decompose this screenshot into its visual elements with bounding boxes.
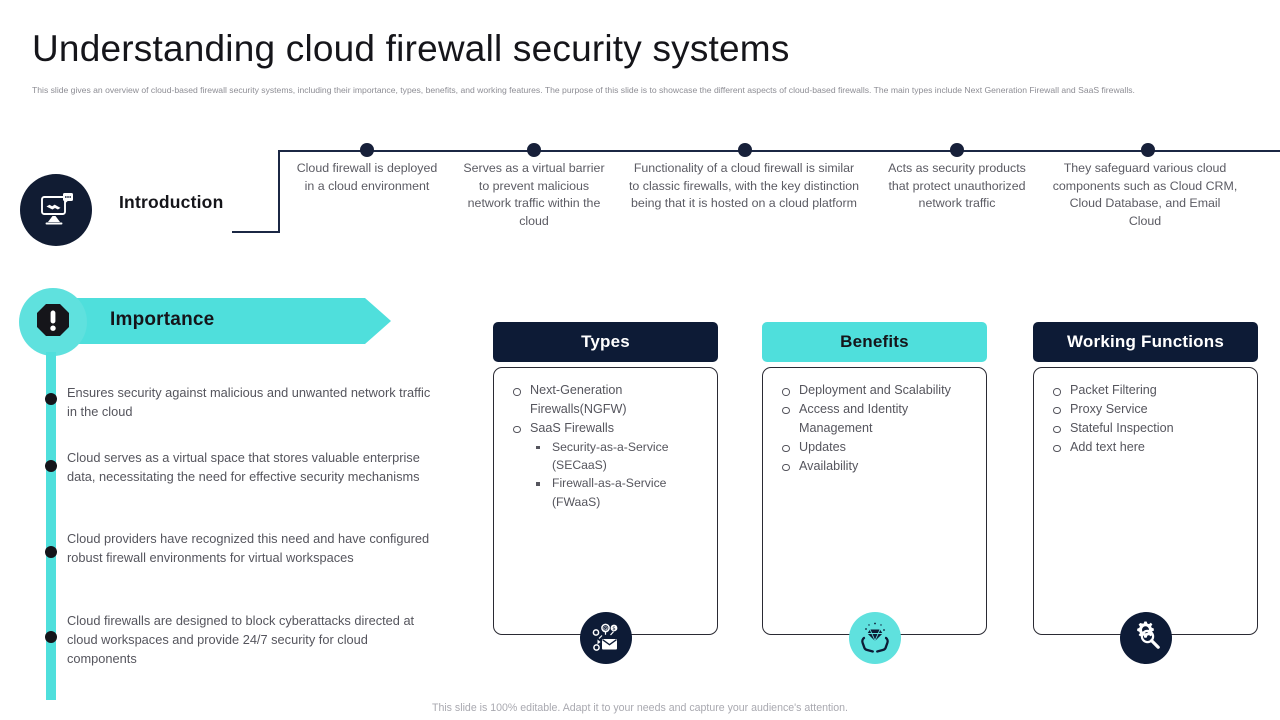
timeline-item-5-text: They safeguard various cloud components … (1052, 160, 1238, 230)
timeline-item-4-text: Acts as security products that protect u… (886, 160, 1028, 213)
exclamation-octagon-icon (33, 300, 73, 345)
importance-bullet-dot-4 (45, 631, 57, 643)
list-item: SaaS Firewalls (506, 420, 705, 438)
importance-title: Importance (110, 309, 214, 331)
card-types[interactable]: Types Next-Generation Firewalls(NGFW) Sa… (493, 322, 718, 635)
importance-bullet-dot-2 (45, 460, 57, 472)
timeline-dot-2 (527, 143, 541, 157)
card-benefits[interactable]: Benefits Deployment and Scalability Acce… (762, 322, 987, 635)
card-benefits-title: Benefits (840, 332, 909, 352)
importance-item-3: Cloud providers have recognized this nee… (67, 529, 437, 567)
timeline-dot-4 (950, 143, 964, 157)
timeline-bracket-vertical (278, 150, 280, 232)
card-types-header: Types (493, 322, 718, 362)
list-item: Stateful Inspection (1046, 420, 1245, 438)
list-item: Firewall-as-a-Service (506, 475, 705, 492)
svg-text:@: @ (603, 626, 608, 632)
timeline-item-5: They safeguard various cloud components … (1052, 160, 1238, 230)
importance-item-1: Ensures security against malicious and u… (67, 383, 437, 421)
list-item: (FWaaS) (506, 494, 705, 511)
list-item: Add text here (1046, 439, 1245, 457)
timeline-dot-1 (360, 143, 374, 157)
list-item: Updates (775, 439, 974, 457)
card-working-functions[interactable]: Working Functions Packet Filtering Proxy… (1033, 322, 1258, 635)
card-types-list: Next-Generation Firewalls(NGFW) SaaS Fir… (506, 382, 705, 511)
gear-magnifier-icon (1130, 620, 1162, 657)
list-item: Next-Generation (506, 382, 705, 400)
card-benefits-header: Benefits (762, 322, 987, 362)
timeline-item-4: Acts as security products that protect u… (886, 160, 1028, 213)
card-types-title: Types (581, 332, 630, 352)
footer-note: This slide is 100% editable. Adapt it to… (0, 702, 1280, 714)
card-benefits-body: Deployment and Scalability Access and Id… (762, 367, 987, 635)
card-working-functions-list: Packet Filtering Proxy Service Stateful … (1046, 382, 1245, 457)
slide-root: Understanding cloud firewall security sy… (0, 0, 1280, 720)
card-benefits-icon-badge (849, 612, 901, 664)
introduction-label: Introduction (119, 192, 223, 213)
list-item: Security-as-a-Service (506, 439, 705, 456)
svg-text:$: $ (612, 626, 615, 632)
list-item: Availability (775, 458, 974, 476)
list-item: Management (775, 420, 974, 438)
list-item: Packet Filtering (1046, 382, 1245, 400)
timeline-item-2: Serves as a virtual barrier to prevent m… (458, 160, 610, 230)
page-title: Understanding cloud firewall security sy… (32, 28, 790, 70)
list-item: Deployment and Scalability (775, 382, 974, 400)
timeline-dot-3 (738, 143, 752, 157)
timeline-item-3: Functionality of a cloud firewall is sim… (628, 160, 860, 213)
timeline-item-3-text: Functionality of a cloud firewall is sim… (628, 160, 860, 213)
card-types-icon-badge: @ $ (580, 612, 632, 664)
email-marketing-icon: @ $ (589, 619, 623, 658)
importance-bullet-dot-3 (45, 546, 57, 558)
introduction-icon-badge (20, 174, 92, 246)
card-working-functions-title: Working Functions (1067, 332, 1224, 352)
list-item: Access and Identity (775, 401, 974, 419)
list-item: Firewalls(NGFW) (506, 401, 705, 419)
card-benefits-list: Deployment and Scalability Access and Id… (775, 382, 974, 475)
monitor-handshake-icon (36, 188, 76, 233)
importance-item-2: Cloud serves as a virtual space that sto… (67, 448, 437, 486)
card-working-functions-header: Working Functions (1033, 322, 1258, 362)
timeline-item-2-text: Serves as a virtual barrier to prevent m… (458, 160, 610, 230)
importance-item-4: Cloud firewalls are designed to block cy… (67, 611, 437, 669)
list-item: Proxy Service (1046, 401, 1245, 419)
list-item: (SECaaS) (506, 457, 705, 474)
card-working-functions-body: Packet Filtering Proxy Service Stateful … (1033, 367, 1258, 635)
page-subtitle: This slide gives an overview of cloud-ba… (32, 84, 1222, 96)
timeline-item-1-text: Cloud firewall is deployed in a cloud en… (296, 160, 438, 195)
hands-diamond-icon (858, 619, 892, 658)
importance-bullet-dot-1 (45, 393, 57, 405)
timeline-dot-5 (1141, 143, 1155, 157)
card-working-functions-icon-badge (1120, 612, 1172, 664)
timeline-horizontal-line (278, 150, 1280, 152)
timeline-item-1: Cloud firewall is deployed in a cloud en… (296, 160, 438, 195)
importance-icon-badge (19, 288, 87, 356)
importance-banner (53, 298, 391, 344)
card-types-body: Next-Generation Firewalls(NGFW) SaaS Fir… (493, 367, 718, 635)
timeline-bracket-horizontal (232, 231, 280, 233)
